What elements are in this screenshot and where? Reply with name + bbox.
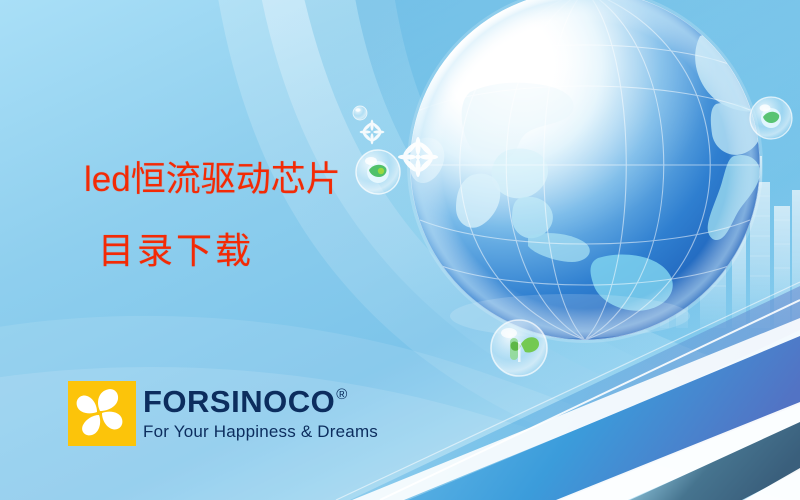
headline-line-2: 目录下载 [98, 233, 254, 269]
forsinoco-flower-mark-icon [68, 381, 136, 446]
registered-trademark-icon: ® [336, 387, 348, 402]
brand-logo[interactable]: FORSINOCO ® For Your Happiness & Dreams [68, 381, 378, 446]
brand-name: FORSINOCO [143, 386, 335, 417]
brand-wordmark-group: FORSINOCO ® For Your Happiness & Dreams [143, 381, 378, 440]
headline-line-1: led恒流驱动芯片 [84, 162, 341, 197]
brand-tagline: For Your Happiness & Dreams [143, 423, 378, 440]
promo-banner: led恒流驱动芯片 目录下载 FORSINOCO ® For Your Happ… [0, 0, 800, 500]
brand-wordmark: FORSINOCO ® [143, 386, 378, 417]
